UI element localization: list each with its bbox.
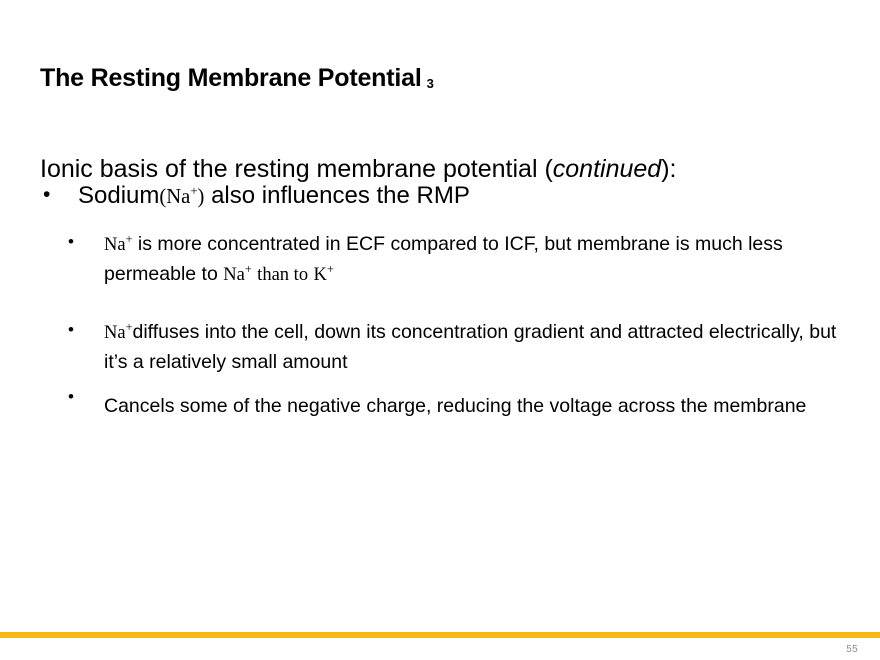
intro-text-before: Ionic basis of the resting membrane pote…	[40, 155, 553, 183]
bullet-level1-text: Sodium(Na+) also influences the RMP	[78, 182, 840, 211]
formula-charge: +	[327, 261, 334, 275]
formula-symbol: Na	[104, 322, 126, 343]
formula-symbol: Na	[166, 186, 190, 208]
bullet-level2-text: Na+ is more concentrated in ECF compared…	[104, 230, 856, 289]
formula-sodium-ion: Na+	[104, 234, 133, 255]
page-title-text: The Resting Membrane Potential	[40, 64, 422, 92]
formula-symbol: Na	[104, 234, 126, 255]
bullet-dot-icon: •	[43, 184, 50, 205]
bullet-level2-charge-cancellation: • Cancels some of the negative charge, r…	[66, 392, 856, 422]
page-title: The Resting Membrane Potential3	[40, 65, 434, 93]
formula-sodium-ion-2: Na+	[223, 264, 252, 285]
bullet-dot-icon: •	[68, 319, 74, 342]
intro-text-italic: continued	[553, 155, 661, 183]
bullet-level1-rest: also influences the RMP	[211, 182, 470, 209]
bullet-level2-sodium-diffusion: • Na+diffuses into the cell, down its co…	[66, 318, 856, 377]
bullet-level2-text: Na+diffuses into the cell, down its conc…	[104, 318, 856, 377]
footer-divider	[0, 632, 880, 638]
intro-text-after: ):	[661, 155, 676, 183]
bullet-level2-text: Cancels some of the negative charge, red…	[104, 392, 856, 422]
bullet-level2-body: is more concentrated in ECF compared to …	[104, 233, 783, 285]
bullet-level1-sodium: • Sodium(Na+) also influences the RMP	[40, 182, 840, 211]
slide-number: 55	[846, 644, 858, 655]
formula-charge: +	[245, 261, 252, 275]
formula-charge: +	[126, 320, 133, 334]
slide-canvas: The Resting Membrane Potential3 Ionic ba…	[0, 0, 880, 660]
formula-close-paren: )	[198, 186, 205, 208]
formula-potassium-ion: K+	[314, 264, 334, 285]
bullet-dot-icon: •	[68, 386, 74, 409]
formula-sodium-ion: Na+	[104, 322, 133, 343]
bullet-dot-icon: •	[68, 231, 74, 254]
page-title-suffix: 3	[422, 76, 434, 91]
formula-sodium-ion: (Na+)	[159, 186, 204, 208]
bullet-level1-lead: Sodium	[78, 182, 159, 209]
formula-symbol: K	[314, 264, 327, 285]
bullet-level2-connector: than to	[257, 264, 308, 285]
bullet-level2-sodium-concentration: • Na+ is more concentrated in ECF compar…	[66, 230, 856, 289]
formula-charge: +	[190, 184, 197, 198]
bullet-level2-body: diffuses into the cell, down its concent…	[104, 321, 836, 373]
intro-line: Ionic basis of the resting membrane pote…	[40, 155, 677, 184]
formula-charge: +	[126, 232, 133, 246]
formula-symbol: Na	[223, 264, 245, 285]
